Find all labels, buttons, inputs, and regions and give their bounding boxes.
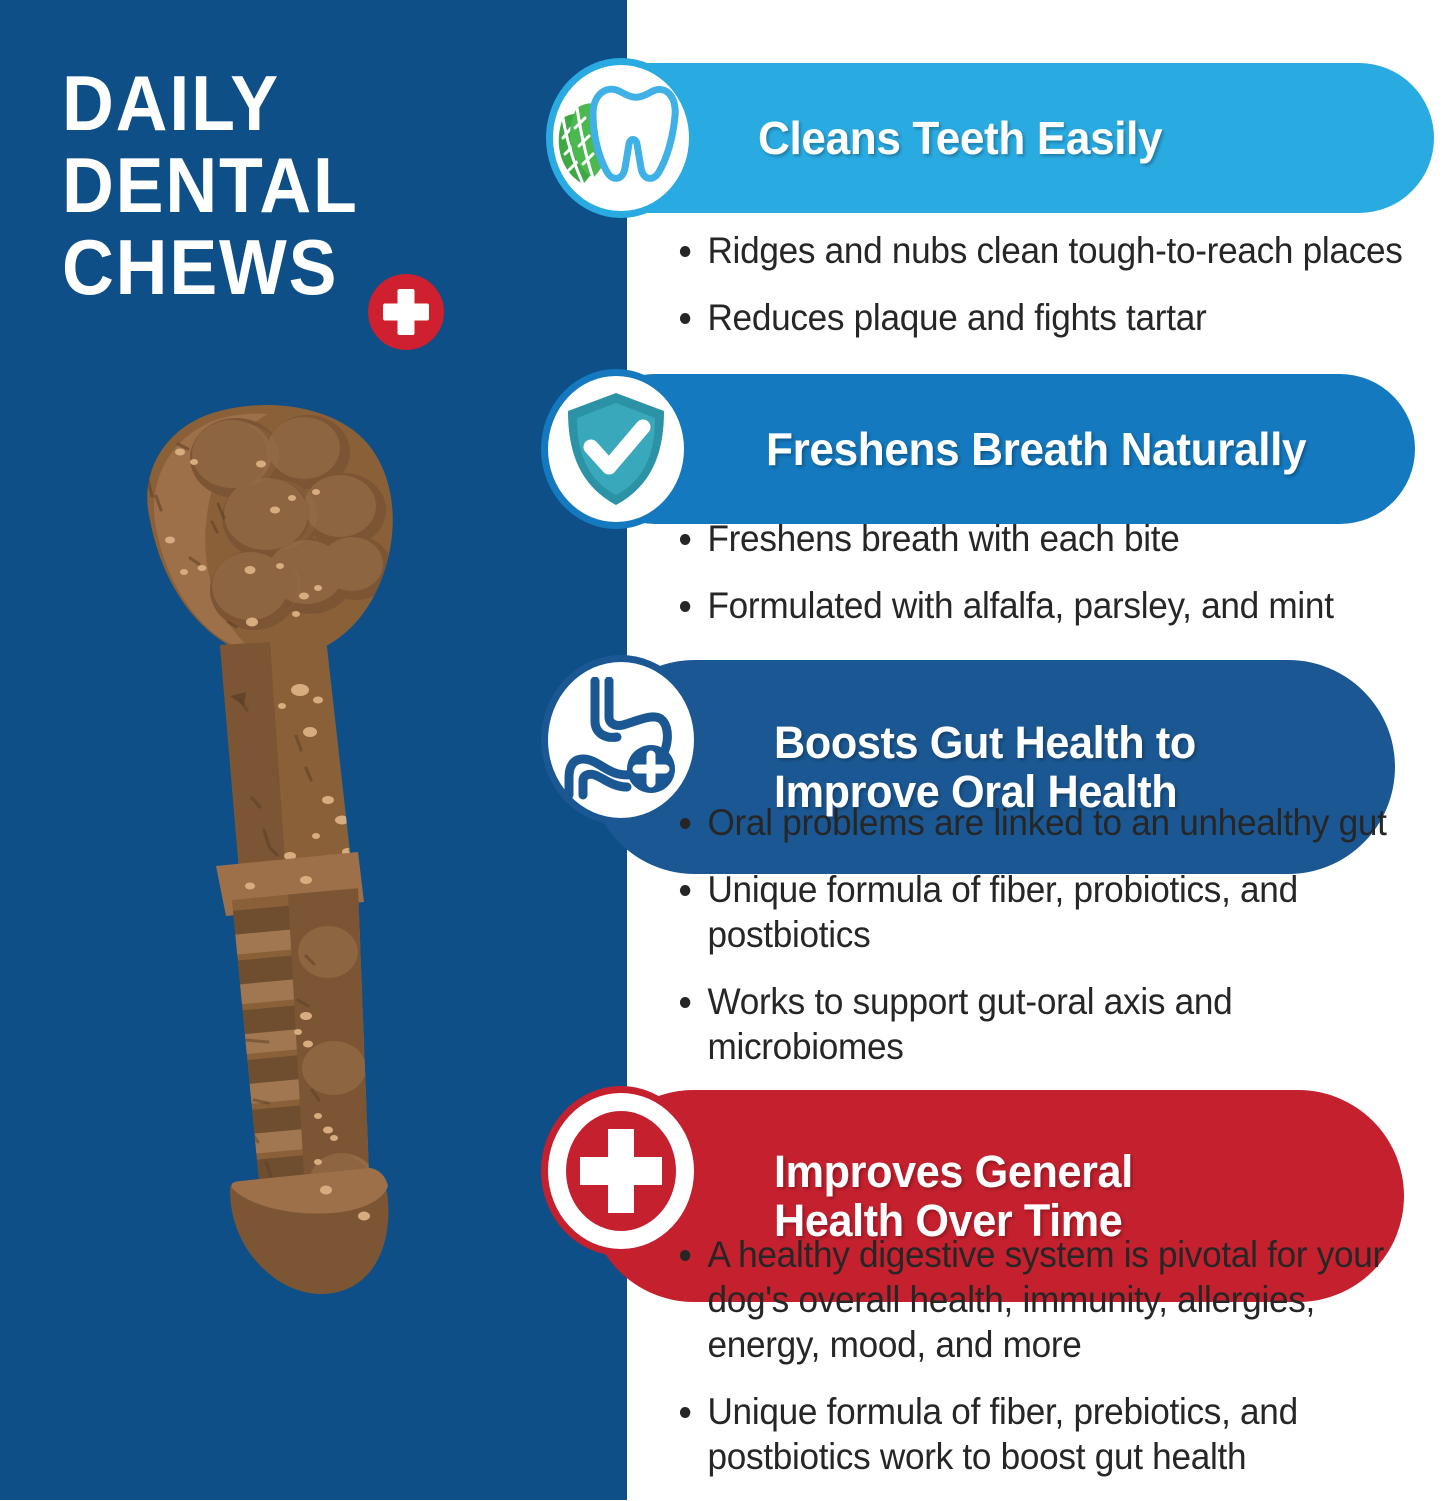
bullet-item: Formulated with alfalfa, parsley, and mi… xyxy=(678,583,1406,628)
bullet-item: Reduces plaque and fights tartar xyxy=(678,295,1406,340)
shield-check-icon xyxy=(541,369,691,529)
bullets-boosts-gut-health: Oral problems are linked to an unhealthy… xyxy=(678,800,1444,1091)
bullet-item: A healthy digestive system is pivotal fo… xyxy=(678,1232,1406,1367)
bullets-improves-general-health: A healthy digestive system is pivotal fo… xyxy=(678,1232,1444,1501)
bullet-item: Ridges and nubs clean tough-to-reach pla… xyxy=(678,228,1406,273)
banner-cleans-teeth: Cleans Teeth Easily xyxy=(572,63,1434,213)
banner-freshens-breath: Freshens Breath Naturally xyxy=(580,374,1415,524)
bullet-item: Works to support gut-oral axis and micro… xyxy=(678,979,1406,1069)
banner-title-freshens-breath: Freshens Breath Naturally xyxy=(766,424,1306,474)
bullet-item: Unique formula of fiber, probiotics, and… xyxy=(678,867,1406,957)
banner-title-cleans-teeth: Cleans Teeth Easily xyxy=(758,113,1162,163)
medical-cross-circle-icon xyxy=(541,1086,701,1256)
bullets-cleans-teeth: Ridges and nubs clean tough-to-reach pla… xyxy=(678,228,1444,362)
stomach-plus-icon xyxy=(541,655,701,825)
banner-title-improves-general-health-line1: Improves General xyxy=(774,1147,1133,1196)
tooth-shape xyxy=(593,89,675,178)
bullet-item: Oral problems are linked to an unhealthy… xyxy=(678,800,1406,845)
bullet-item: Unique formula of fiber, prebiotics, and… xyxy=(678,1389,1406,1479)
bullets-freshens-breath: Freshens breath with each bite Formulate… xyxy=(678,516,1444,650)
bullet-item: Freshens breath with each bite xyxy=(678,516,1406,561)
tooth-with-mint-leaf-icon xyxy=(546,58,696,218)
banner-title-boosts-gut-health-line1: Boosts Gut Health to xyxy=(774,718,1196,767)
